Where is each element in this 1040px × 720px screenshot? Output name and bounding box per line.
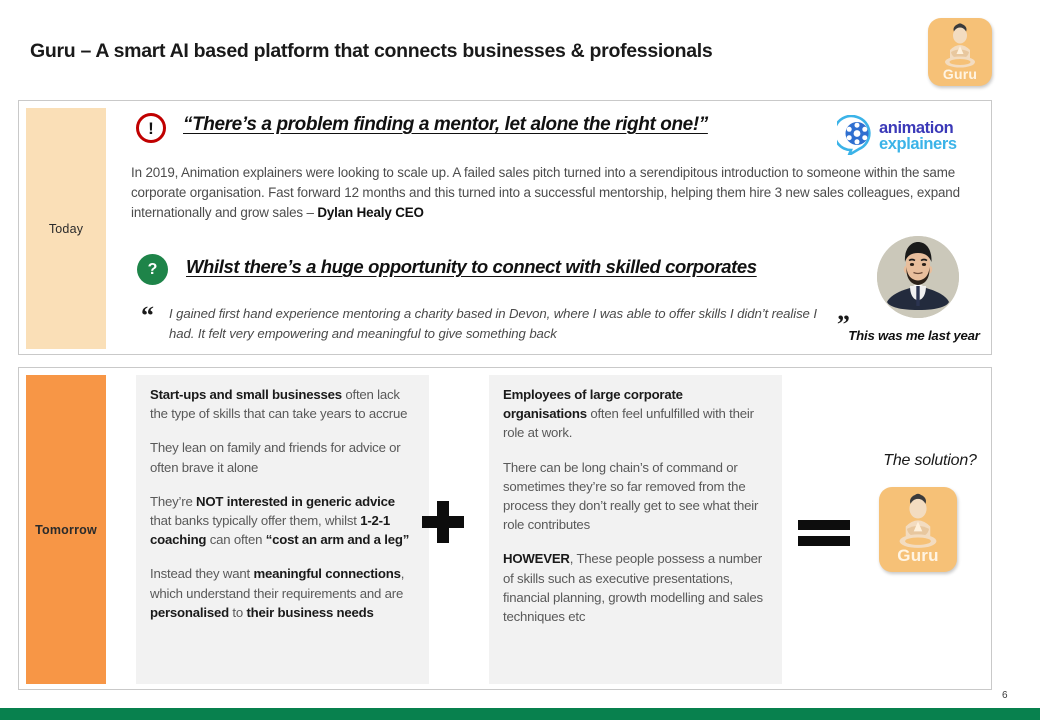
- equals-operator-icon: [798, 520, 850, 546]
- startups-p3-c: that banks typically offer them, whilst: [150, 513, 360, 528]
- footer-bar: [0, 708, 1040, 720]
- startups-p3-d: can often: [206, 532, 265, 547]
- solution-label: The solution?: [860, 452, 1000, 470]
- quote-open-icon: “: [141, 303, 154, 329]
- startups-para-2: They lean on family and friends for advi…: [150, 438, 415, 476]
- today-testimonial: I gained first hand experience mentoring…: [169, 304, 829, 344]
- today-headline-opportunity: Whilst there’s a huge opportunity to con…: [186, 256, 757, 278]
- today-story-paragraph: In 2019, Animation explainers were looki…: [131, 163, 976, 223]
- equals-bar-bottom: [798, 536, 850, 546]
- startups-p4-d: to: [229, 605, 247, 620]
- startups-p3-a: They’re: [150, 494, 196, 509]
- quote-close-icon: “: [837, 301, 850, 327]
- story-body: In 2019, Animation explainers were looki…: [131, 165, 960, 220]
- startups-p3-b1: NOT interested in generic advice: [196, 494, 395, 509]
- today-headline-problem: “There’s a problem finding a mentor, let…: [183, 114, 708, 136]
- employees-p3-bold: HOWEVER: [503, 551, 570, 566]
- startups-p4-b3: their business needs: [246, 605, 373, 620]
- startups-p1-bold: Start-ups and small businesses: [150, 387, 342, 402]
- svg-text:explainers: explainers: [879, 135, 957, 153]
- today-panel: Today ! “There’s a problem finding a men…: [18, 100, 992, 355]
- startups-p4-b2: personalised: [150, 605, 229, 620]
- question-mark-icon: ?: [137, 254, 168, 285]
- startups-p3-b3: “cost an arm and a leg”: [266, 532, 409, 547]
- alert-exclamation-icon: !: [136, 113, 166, 143]
- page-number: 6: [1002, 690, 1008, 701]
- startups-p4-b1: meaningful connections: [253, 566, 400, 581]
- equals-bar-top: [798, 520, 850, 530]
- startups-para-1: Start-ups and small businesses often lac…: [150, 385, 415, 423]
- guru-logo-wordmark: Guru: [928, 66, 992, 82]
- today-band: Today: [26, 108, 106, 349]
- page-title: Guru – A smart AI based platform that co…: [30, 40, 712, 63]
- employees-para-2: There can be long chain’s of command or …: [503, 458, 768, 535]
- guru-logo-solution: Guru: [879, 487, 957, 572]
- story-author: Dylan Healy CEO: [317, 205, 423, 220]
- guru-logo-header: Guru: [928, 18, 992, 86]
- today-band-label: Today: [49, 222, 83, 236]
- animation-explainers-logo: animation explainers: [837, 115, 987, 155]
- plus-operator-icon: [422, 501, 464, 543]
- employees-para-3: HOWEVER, These people possess a number o…: [503, 549, 768, 626]
- avatar: [877, 236, 959, 318]
- startups-para-4: Instead they want meaningful connections…: [150, 564, 415, 622]
- startups-p4-a: Instead they want: [150, 566, 253, 581]
- headshot-caption: This was me last year: [814, 328, 1014, 343]
- tomorrow-band: Tomorrow: [26, 375, 106, 684]
- startups-para-3: They’re NOT interested in generic advice…: [150, 492, 415, 550]
- column-employees: Employees of large corporate organisatio…: [489, 375, 782, 684]
- alert-glyph: !: [148, 120, 154, 137]
- tomorrow-band-label: Tomorrow: [35, 523, 97, 537]
- question-glyph: ?: [148, 261, 158, 279]
- guru-logo-wordmark: Guru: [879, 546, 957, 566]
- employees-para-1: Employees of large corporate organisatio…: [503, 385, 768, 443]
- column-startups: Start-ups and small businesses often lac…: [136, 375, 429, 684]
